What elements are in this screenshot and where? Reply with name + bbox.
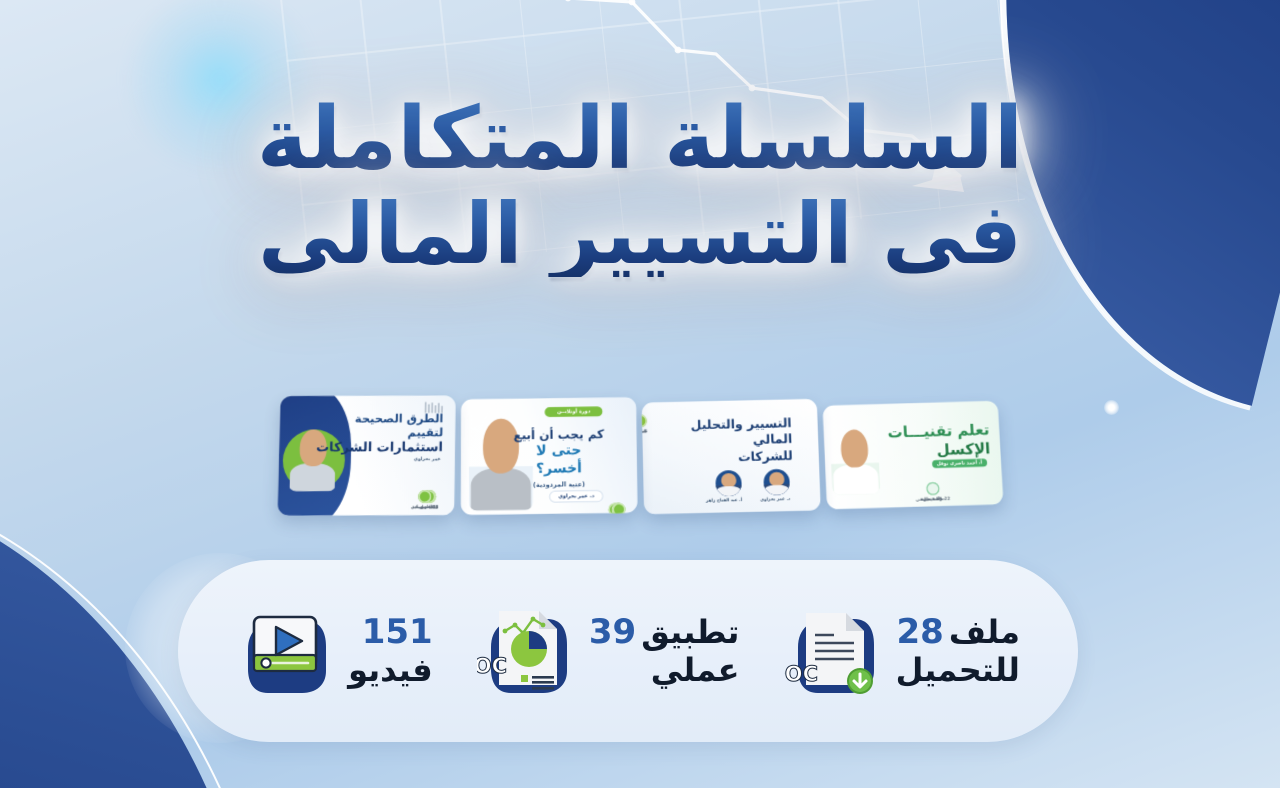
avatar bbox=[763, 469, 790, 496]
page-title: السلسلة المتكاملة في التسيير المالي bbox=[0, 96, 1280, 277]
feature-icon bbox=[418, 490, 431, 503]
course-author: عمر بحراوي bbox=[414, 457, 441, 462]
stat-practical-apps: تطبيق 39 عملي DOC bbox=[477, 603, 740, 699]
stat-text: 151 فيديو bbox=[348, 612, 433, 690]
course-cards-strip: تعلم تقنيـــات الإكسل أ. أحمد ناصري نوفل… bbox=[0, 382, 1280, 546]
svg-text:DOC: DOC bbox=[784, 662, 818, 686]
course-title-text: تعلم تقنيـــات bbox=[887, 421, 990, 442]
stat-text: تطبيق 39 عملي bbox=[589, 612, 740, 690]
svg-text:DOC: DOC bbox=[477, 654, 507, 678]
stat-videos: 151 فيديو bbox=[236, 603, 433, 699]
course-feature-list: دراسة حالة 22 ملف تطبيقي 54 فيديو bbox=[873, 499, 993, 503]
feature-icon bbox=[926, 482, 940, 495]
course-title-text: كم يجب أن أبيع bbox=[513, 427, 604, 442]
feature-icon bbox=[612, 503, 625, 515]
course-tag: دورة أونلايــن bbox=[545, 406, 602, 417]
course-subtitle-text: استثمارات الشركات bbox=[315, 440, 443, 456]
course-feature-item: مثال تطبيقي bbox=[642, 414, 648, 433]
video-play-icon bbox=[236, 603, 332, 699]
stat-unit: تطبيق bbox=[641, 613, 739, 651]
poster-canvas: السلسلة المتكاملة في التسيير المالي تعلم… bbox=[0, 0, 1280, 788]
course-card-investments[interactable]: الطرق الصحيحة لتقييم استثمارات الشركات ع… bbox=[277, 396, 455, 516]
stat-line2: عملي bbox=[589, 652, 740, 690]
course-author: د. عمر بحراوي bbox=[549, 490, 603, 503]
stat-downloadable-files: ملف 28 للتحميل DOC bbox=[784, 603, 1020, 699]
course-card-break-even[interactable]: دورة أونلايــن كم يجب أن أبيع حتى لا أخس… bbox=[461, 397, 638, 515]
stat-number: 39 bbox=[589, 612, 636, 652]
title-line-2: في التسيير المالي bbox=[0, 192, 1280, 278]
course-title: كم يجب أن أبيع حتى لا أخسر؟ (عتبة المردو… bbox=[511, 427, 607, 489]
stat-number: 151 bbox=[362, 612, 433, 652]
instructor-avatars: د. عمر بحراوي أ. عبد الفتاح زاهر bbox=[705, 469, 790, 503]
stat-unit: فيديو bbox=[348, 652, 433, 690]
course-title: تعلم تقنيـــات الإكسل bbox=[885, 421, 991, 461]
feature-label: 54 فيديو bbox=[924, 496, 943, 502]
course-subtitle-text: الإكسل bbox=[886, 439, 991, 461]
course-author-badge: أ. أحمد ناصري نوفل bbox=[932, 459, 988, 469]
stats-panel: ملف 28 للتحميل DOC bbox=[178, 560, 1078, 742]
stat-line2: للتحميل bbox=[896, 652, 1020, 690]
stat-unit: ملف bbox=[949, 613, 1020, 651]
instructor-name: د. عمر بحراوي bbox=[760, 496, 790, 502]
course-title-text: التسيير والتحليل المالي bbox=[690, 415, 792, 447]
course-feature-item: مثال تطبيقي bbox=[411, 490, 439, 509]
instructor-name: أ. عبد الفتاح زاهر bbox=[706, 497, 742, 503]
doc-download-icon: DOC bbox=[784, 603, 880, 699]
instructor-photo bbox=[829, 420, 880, 495]
stat-text: ملف 28 للتحميل bbox=[896, 612, 1020, 690]
course-title-text: الطرق الصحيحة لتقييم bbox=[355, 411, 444, 439]
stat-number: 28 bbox=[897, 612, 944, 652]
course-subtitle-text: للشركات bbox=[669, 447, 793, 466]
course-title: التسيير والتحليل المالي للشركات bbox=[668, 415, 793, 466]
course-card-financial-management[interactable]: 5 محاور فيديو مثال تطبيقي التسيير والتحل… bbox=[642, 399, 821, 515]
title-line-1: السلسلة المتكاملة bbox=[0, 96, 1280, 184]
course-subtitle-text: حتى لا أخسر؟ bbox=[511, 442, 607, 478]
course-feature-item: 54 فيديو bbox=[923, 482, 942, 502]
course-feature-item: حالات عملية bbox=[606, 503, 631, 515]
course-paren-note: (عتبة المردودية) bbox=[511, 480, 607, 489]
avatar bbox=[715, 470, 742, 497]
course-title: الطرق الصحيحة لتقييم استثمارات الشركات bbox=[315, 411, 444, 456]
feature-label: مثال تطبيقي bbox=[411, 504, 438, 509]
feature-label: مثال تطبيقي bbox=[642, 428, 648, 434]
course-card-excel[interactable]: تعلم تقنيـــات الإكسل أ. أحمد ناصري نوفل… bbox=[823, 401, 1004, 510]
doc-chart-icon: DOC bbox=[477, 603, 573, 699]
